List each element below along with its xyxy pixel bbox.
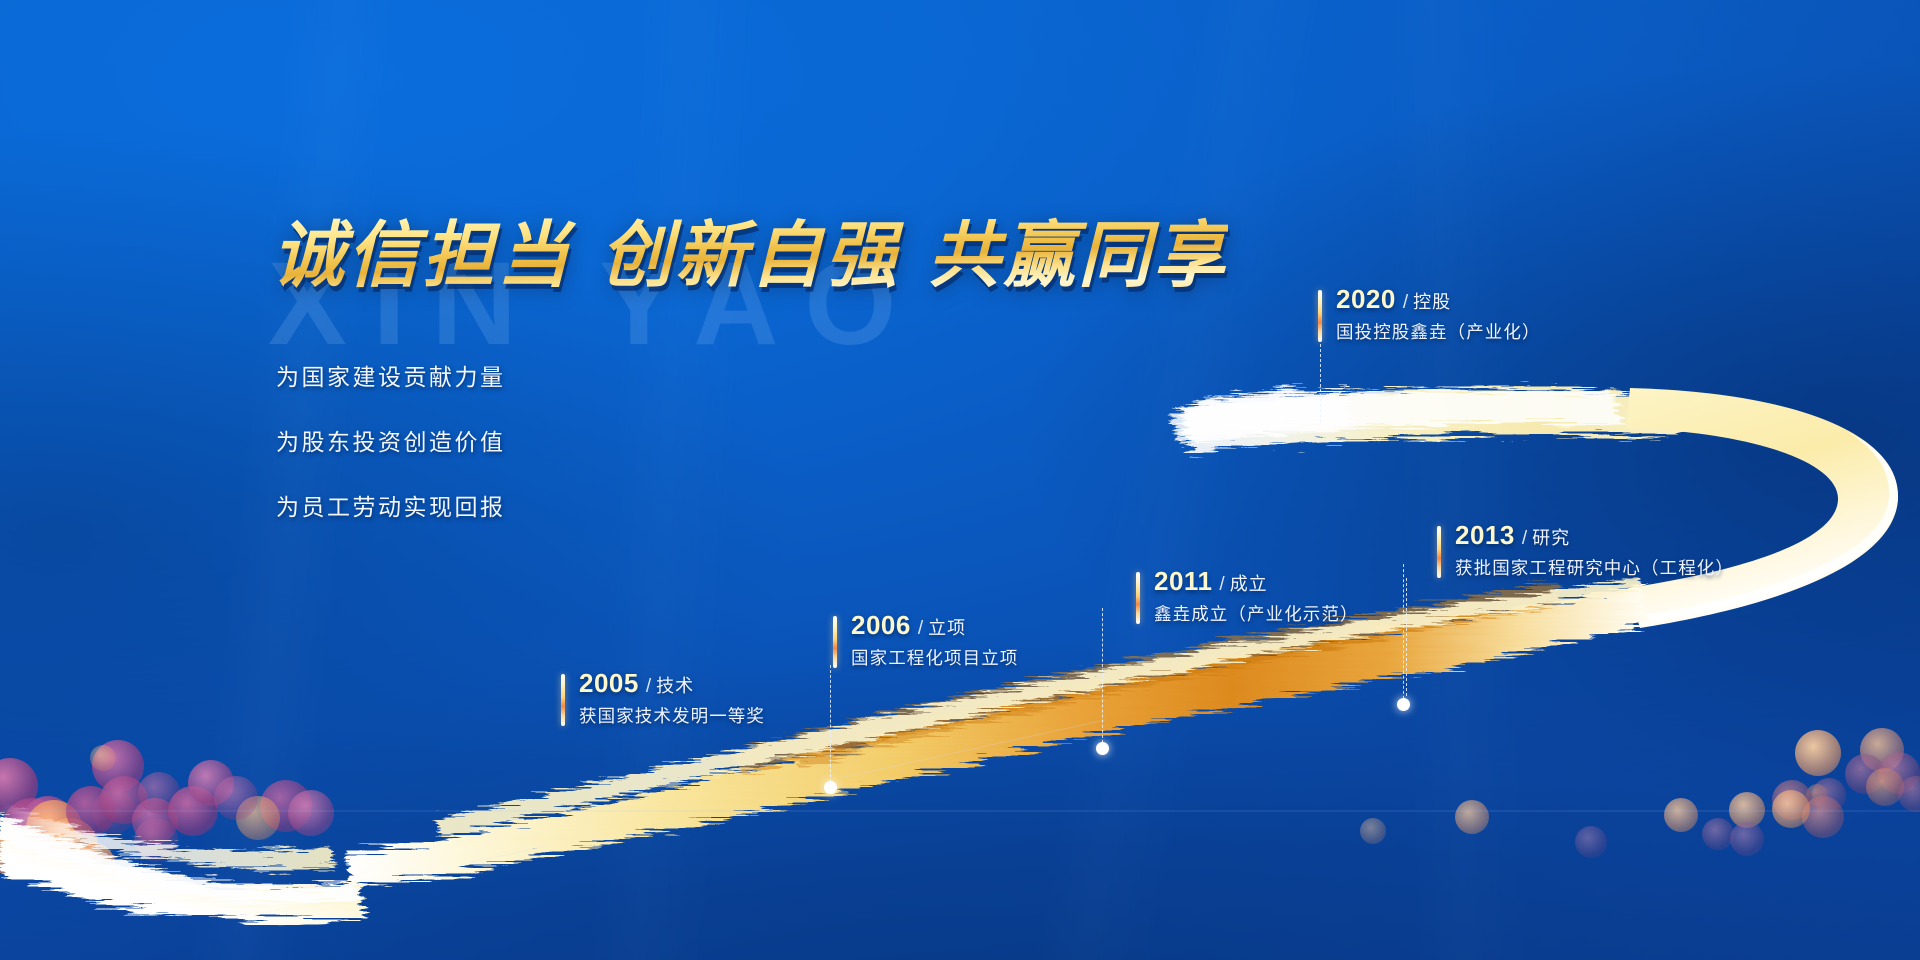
slogan-item: 为员工劳动实现回报: [276, 488, 506, 522]
bokeh-dot: [0, 828, 36, 876]
bokeh-dot: [214, 776, 258, 820]
bokeh-dot: [1845, 754, 1885, 794]
page-title: 诚信担当 创新自强 共赢同享: [272, 196, 1228, 301]
bokeh-dot: [0, 758, 38, 814]
bokeh-dot: [1729, 792, 1765, 828]
bokeh-dot: [1772, 780, 1812, 820]
timeline-marker-bar: [1437, 526, 1441, 578]
bokeh-dot: [260, 780, 312, 832]
timeline-leader-line-2013: [1406, 578, 1407, 696]
timeline-heading: 2011/成立: [1154, 568, 1268, 594]
bokeh-dot: [42, 818, 98, 874]
slogan-item: 为股东投资创造价值: [276, 423, 506, 457]
bokeh-dot: [1898, 776, 1920, 812]
timeline-year: 2005: [579, 668, 639, 698]
timeline-separator: /: [1403, 292, 1408, 313]
bokeh-dot: [90, 745, 116, 771]
timeline-description: 获批国家工程研究中心（工程化）: [1455, 555, 1734, 580]
bokeh-dot: [1806, 784, 1828, 806]
bokeh-dot: [132, 798, 178, 844]
timeline-description: 国家工程化项目立项: [851, 645, 1018, 670]
timeline-marker-bar: [833, 616, 837, 668]
timeline-category: 成立: [1230, 574, 1268, 594]
bokeh-dot: [1772, 790, 1810, 828]
timeline-year: 2006: [851, 610, 911, 640]
timeline-point-2005[interactable]: [824, 781, 837, 794]
poster-canvas: XIN YAO 诚信担当 创新自强 共赢同享 为国家建设贡献力量 为股东投资创造…: [0, 0, 1920, 960]
bokeh-dot: [1664, 798, 1698, 832]
bokeh-dot: [66, 842, 116, 892]
timeline-marker-bar: [1136, 572, 1140, 624]
timeline-leader-line-2006: [1102, 608, 1103, 748]
bokeh-dot: [236, 796, 280, 840]
timeline-heading: 2013/研究: [1455, 522, 1570, 548]
bokeh-dot: [134, 818, 178, 862]
ribbon-lower-stroke: [346, 578, 1648, 888]
ribbon-tail-feather: [0, 800, 336, 869]
bokeh-dot: [26, 800, 82, 856]
timeline-point-2011[interactable]: [1397, 698, 1410, 711]
horizon-line: [0, 810, 1920, 812]
bokeh-dot: [1360, 818, 1386, 844]
bokeh-dot: [1812, 778, 1846, 812]
bokeh-dot: [92, 740, 144, 792]
ribbon-right-loop: [1626, 388, 1898, 628]
ribbon-upper-stroke: [1170, 388, 1680, 452]
timeline-year: 2011: [1154, 566, 1212, 596]
bokeh-dot: [1878, 752, 1920, 794]
timeline-category: 控股: [1413, 292, 1451, 312]
timeline-separator: /: [1522, 528, 1527, 549]
bokeh-dot: [1730, 822, 1764, 856]
bokeh-dot: [1455, 800, 1489, 834]
timeline-description: 鑫垚成立（产业化示范）: [1154, 601, 1359, 626]
bokeh-dot: [1795, 730, 1841, 776]
bokeh-dot: [288, 790, 334, 836]
bokeh-dot: [100, 776, 148, 824]
bokeh-dot: [92, 790, 136, 834]
timeline-description: 获国家技术发明一等奖: [579, 703, 765, 728]
bokeh-dot: [2, 798, 62, 858]
bokeh-dot: [22, 796, 74, 848]
timeline-year: 2020: [1336, 284, 1396, 314]
timeline-description: 国投控股鑫垚（产业化）: [1336, 319, 1541, 344]
ribbon-hairlines: [470, 720, 1105, 862]
timeline-marker-bar: [561, 674, 565, 726]
bokeh-dot: [22, 796, 74, 848]
bokeh-dot: [168, 786, 218, 836]
timeline-category: 研究: [1532, 528, 1570, 548]
bokeh-dot: [138, 772, 180, 814]
bokeh-dot: [1860, 728, 1904, 772]
timeline-category: 立项: [928, 618, 966, 638]
bokeh-dot: [1866, 768, 1904, 806]
timeline-separator: /: [918, 618, 923, 639]
slogan-item: 为国家建设贡献力量: [276, 358, 506, 392]
bokeh-dot: [1802, 796, 1844, 838]
bokeh-dot: [1575, 826, 1607, 858]
timeline-year: 2013: [1455, 520, 1515, 550]
bokeh-dot: [66, 786, 116, 836]
timeline-leader-line-2020: [1320, 344, 1321, 422]
timeline-separator: /: [646, 676, 651, 697]
timeline-leader-line-2005: [830, 665, 831, 787]
timeline-point-2006[interactable]: [1096, 742, 1109, 755]
timeline-heading: 2020/控股: [1336, 286, 1451, 312]
slogan-list: 为国家建设贡献力量 为股东投资创造价值 为员工劳动实现回报: [276, 358, 506, 553]
timeline-leader-line-2011: [1403, 564, 1404, 704]
bokeh-dot: [1702, 818, 1734, 850]
timeline-category: 技术: [656, 676, 694, 696]
timeline-separator: /: [1219, 574, 1224, 595]
timeline-marker-bar: [1318, 290, 1322, 342]
timeline-heading: 2006/立项: [851, 612, 966, 638]
bokeh-dot: [188, 760, 234, 806]
ribbon-left-tail: [0, 814, 364, 921]
timeline-heading: 2005/技术: [579, 670, 694, 696]
